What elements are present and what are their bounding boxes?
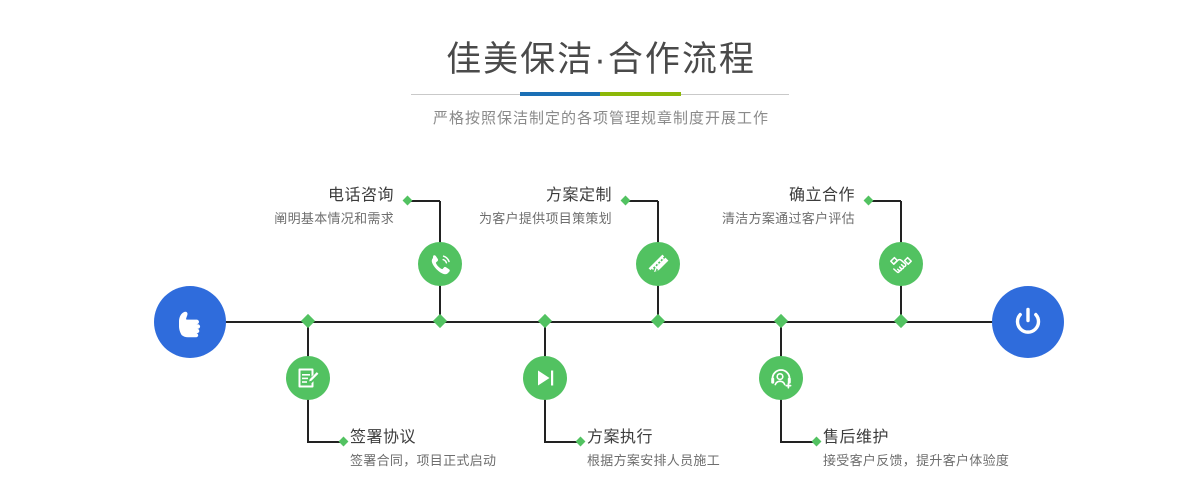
flow-start-marker [154, 286, 226, 358]
flow-end-marker [992, 286, 1064, 358]
step-desc-3: 为客户提供项目策策划 [368, 210, 612, 228]
sign-document-icon [295, 365, 321, 391]
connector-horizontal-step-1 [411, 200, 440, 202]
step-label-5: 售后维护 接受客户反馈，提升客户体验度 [823, 428, 1143, 470]
play-execute-icon [532, 365, 558, 391]
step-node-6[interactable] [879, 242, 923, 286]
handshake-icon [888, 251, 914, 277]
axis-diamond-step-1 [433, 314, 447, 328]
axis-diamond-step-3 [651, 314, 665, 328]
step-desc-5: 接受客户反馈，提升客户体验度 [823, 452, 1143, 470]
power-icon [1008, 302, 1048, 342]
axis-diamond-step-6 [894, 314, 908, 328]
step-node-1[interactable] [418, 242, 462, 286]
step-node-5[interactable] [759, 356, 803, 400]
ruler-pencil-icon [645, 251, 671, 277]
step-desc-1: 阐明基本情况和需求 [150, 210, 394, 228]
step-label-6: 确立合作 清洁方案通过客户评估 [611, 186, 855, 228]
step-label-1: 电话咨询 阐明基本情况和需求 [150, 186, 394, 228]
step-node-4[interactable] [523, 356, 567, 400]
step-title-1: 电话咨询 [150, 186, 394, 206]
connector-horizontal-step-3 [629, 200, 658, 202]
connector-diamond-step-2 [339, 437, 349, 447]
step-label-3: 方案定制 为客户提供项目策策划 [368, 186, 612, 228]
axis-diamond-step-5 [774, 314, 788, 328]
connector-diamond-step-6 [864, 196, 874, 206]
step-node-2[interactable] [286, 356, 330, 400]
step-title-6: 确立合作 [611, 186, 855, 206]
phone-call-icon [427, 251, 453, 277]
pointing-hand-icon [170, 302, 210, 342]
step-desc-6: 清洁方案通过客户评估 [611, 210, 855, 228]
axis-diamond-step-4 [538, 314, 552, 328]
step-title-5: 售后维护 [823, 428, 1143, 448]
step-node-3[interactable] [636, 242, 680, 286]
process-flow: 电话咨询 阐明基本情况和需求 签署协议 签署合同，项目正式启动 [0, 0, 1202, 502]
axis-diamond-step-2 [301, 314, 315, 328]
customer-service-icon [768, 365, 794, 391]
cooperation-process-infographic: 佳美保洁·合作流程 严格按照保洁制定的各项管理规章制度开展工作 [0, 0, 1202, 502]
connector-horizontal-step-6 [872, 200, 901, 202]
